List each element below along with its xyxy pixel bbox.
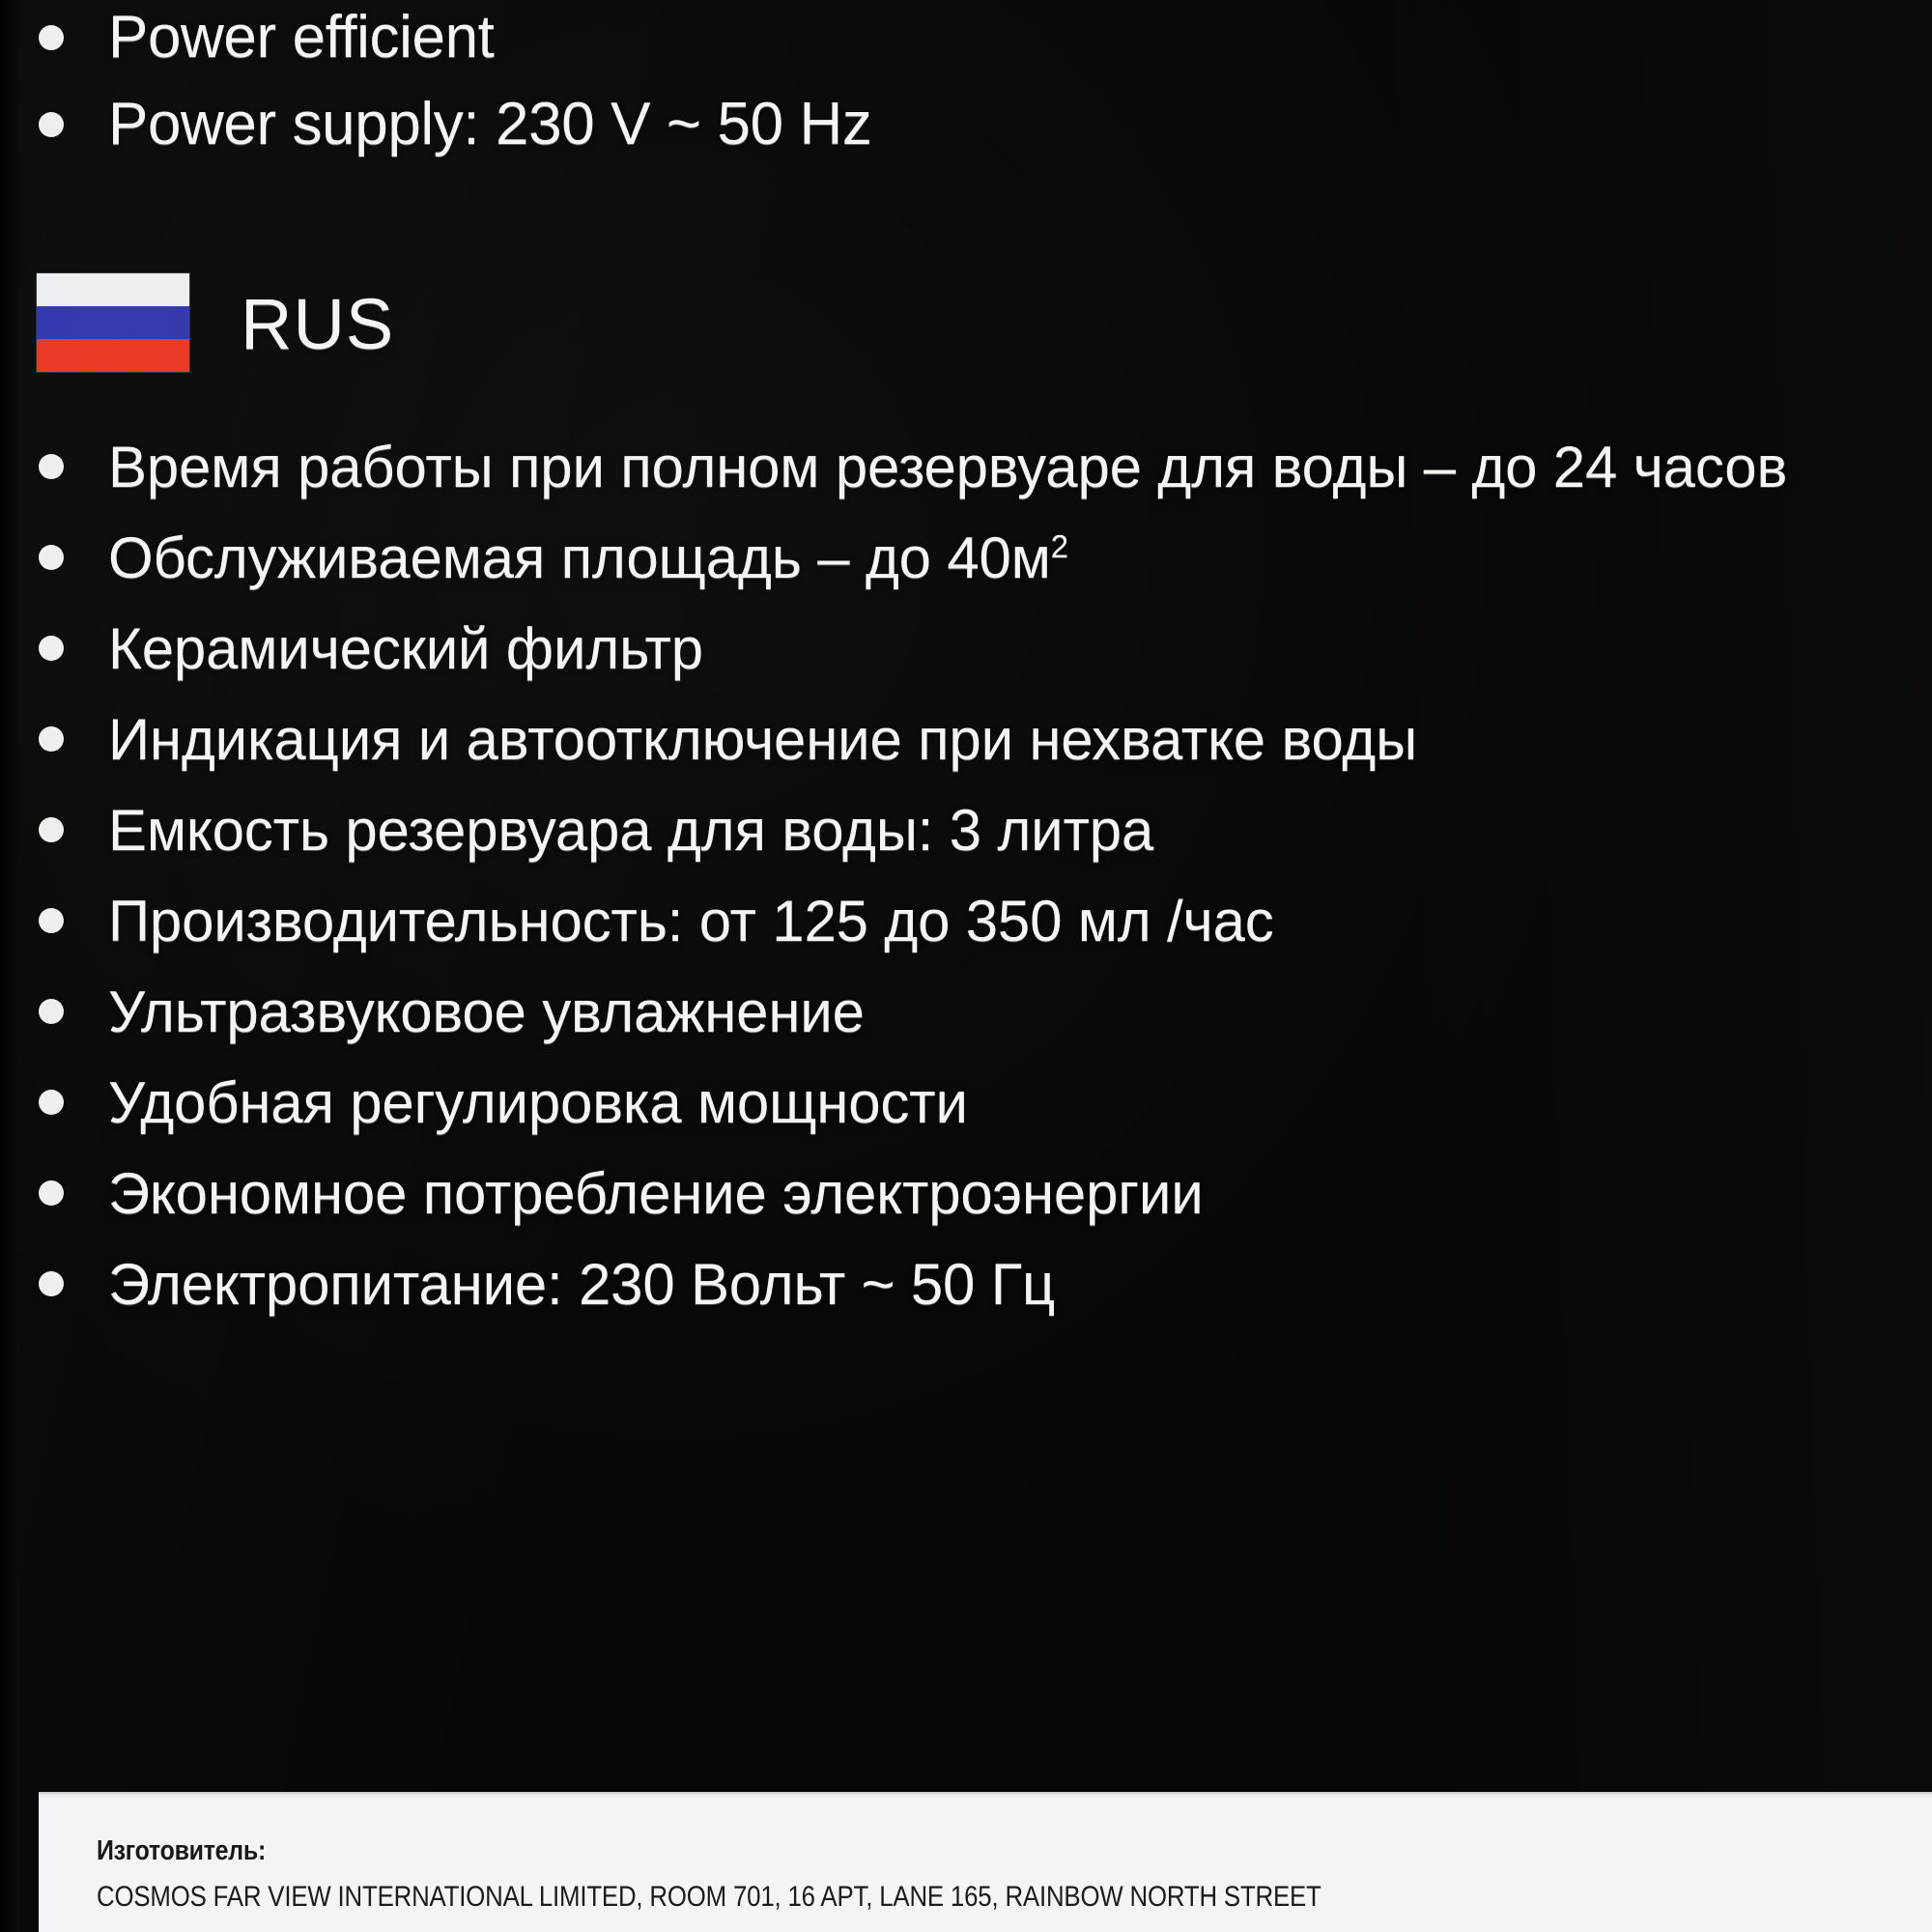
language-section-header: RUS	[37, 273, 394, 372]
bullet-dot-icon	[39, 545, 64, 570]
russian-flag-icon	[37, 273, 189, 372]
bullet-dot-icon	[39, 908, 64, 933]
bullet-dot-icon	[39, 999, 64, 1024]
flag-stripe-red	[37, 339, 189, 372]
list-item: Электропитание: 230 Вольт ~ 50 Гц	[39, 1244, 1913, 1325]
russian-bullet-text: Ультразвуковое увлажнение	[108, 972, 865, 1053]
russian-bullet-text: Время работы при полном резервуаре для в…	[108, 427, 1787, 508]
russian-bullet-area-base: Обслуживаемая площадь – до 40м	[108, 526, 1051, 590]
flag-stripe-white	[37, 273, 189, 306]
list-item: Керамический фильтр	[39, 609, 1913, 690]
russian-bullet-text: Индикация и автоотключение при нехватке …	[108, 699, 1417, 781]
flag-stripe-blue	[37, 306, 189, 339]
list-item: Производительность: от 125 до 350 мл /ча…	[39, 881, 1913, 962]
russian-spec-list: Время работы при полном резервуаре для в…	[39, 427, 1913, 1335]
russian-bullet-text: Экономное потребление электроэнергии	[108, 1153, 1204, 1235]
russian-bullet-text: Удобная регулировка мощности	[108, 1063, 968, 1144]
russian-bullet-text: Электропитание: 230 Вольт ~ 50 Гц	[108, 1244, 1055, 1325]
list-item: Экономное потребление электроэнергии	[39, 1153, 1913, 1235]
english-bullet-text: Power supply: 230 V ~ 50 Hz	[108, 89, 871, 160]
product-package-panel: Power efficient Power supply: 230 V ~ 50…	[0, 0, 1932, 1932]
list-item: Время работы при полном резервуаре для в…	[39, 427, 1913, 508]
bullet-dot-icon	[39, 1180, 64, 1206]
list-item: Индикация и автоотключение при нехватке …	[39, 699, 1913, 781]
bullet-dot-icon	[39, 454, 64, 479]
bullet-dot-icon	[39, 726, 64, 752]
list-item: Power efficient	[39, 2, 1874, 73]
list-item: Емкость резервуара для воды: 3 литра	[39, 790, 1913, 871]
list-item: Ультразвуковое увлажнение	[39, 972, 1913, 1053]
english-spec-list: Power efficient Power supply: 230 V ~ 50…	[39, 2, 1874, 160]
russian-bullet-text: Емкость резервуара для воды: 3 литра	[108, 790, 1153, 871]
list-item: Обслуживаемая площадь – до 40м2	[39, 518, 1913, 599]
list-item: Удобная регулировка мощности	[39, 1063, 1913, 1144]
manufacturer-address: COSMOS FAR VIEW INTERNATIONAL LIMITED, R…	[97, 1881, 1800, 1914]
russian-bullet-text: Керамический фильтр	[108, 609, 703, 690]
bullet-dot-icon	[39, 112, 64, 137]
language-code-label: RUS	[241, 289, 394, 360]
bullet-dot-icon	[39, 1271, 64, 1296]
list-item: Power supply: 230 V ~ 50 Hz	[39, 89, 1874, 160]
manufacturer-title: Изготовитель:	[97, 1834, 1800, 1867]
carton-left-edge	[0, 0, 19, 1932]
manufacturer-label-panel: Изготовитель: COSMOS FAR VIEW INTERNATIO…	[39, 1792, 1932, 1932]
english-bullet-text: Power efficient	[108, 2, 495, 73]
manufacturer-info: Изготовитель: COSMOS FAR VIEW INTERNATIO…	[97, 1834, 1932, 1914]
russian-bullet-text: Производительность: от 125 до 350 мл /ча…	[108, 881, 1274, 962]
russian-bullet-text-area: Обслуживаемая площадь – до 40м2	[108, 518, 1068, 599]
square-meter-superscript: 2	[1051, 528, 1068, 564]
bullet-dot-icon	[39, 636, 64, 661]
bullet-dot-icon	[39, 1090, 64, 1115]
bullet-dot-icon	[39, 817, 64, 842]
panel-edge-shade	[39, 1792, 1932, 1798]
bullet-dot-icon	[39, 25, 64, 50]
